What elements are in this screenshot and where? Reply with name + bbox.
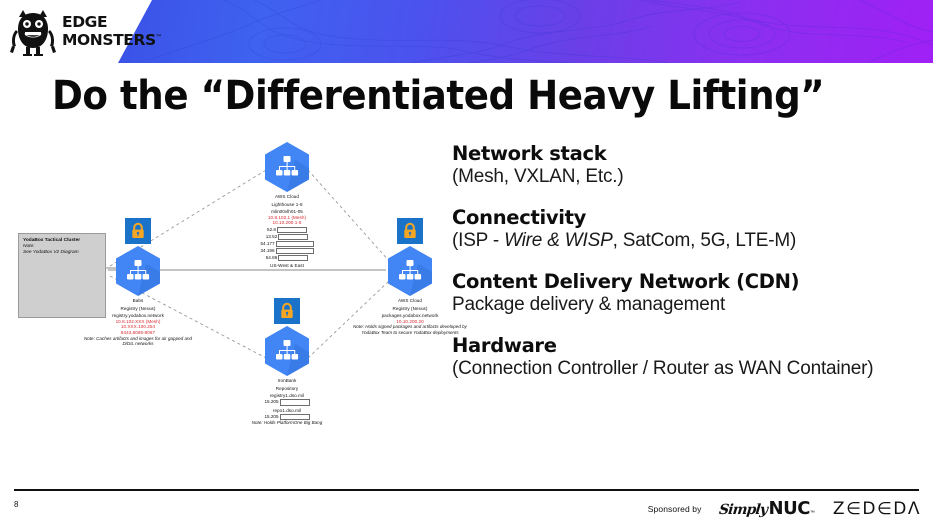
stack-bar	[280, 414, 310, 420]
edge-monsters-monster-icon	[10, 8, 56, 56]
simplynuc-logo: SimplyNUC™	[719, 498, 814, 519]
stack-bar	[276, 248, 314, 254]
ironbank-note: Note: Holds PlatformOne Big Bang	[227, 420, 347, 425]
stack-bar	[278, 234, 308, 240]
stack-number: 34.196	[260, 248, 275, 254]
aws-registry-note: Note: Holds signed packages and artifact…	[350, 324, 470, 335]
stack-bar	[278, 255, 308, 261]
stack-row: 13.52	[227, 233, 347, 240]
header-banner: EDGE MONSTERS™	[0, 0, 933, 63]
aws-lighthouse-ip-stack: 52.8 13.52 54.177 34.196 54.86	[227, 226, 347, 261]
stack-bar	[280, 399, 310, 405]
bullet-heading: Network stack	[452, 142, 922, 165]
bullet-subtext: Package delivery & management	[452, 293, 922, 317]
ironbank-hexagon	[264, 326, 310, 376]
node-aws-registry[interactable]: AWS Cloud Registry (Nexus) packages.yoda…	[350, 218, 470, 335]
babs-note: Note: Caches artifacts and images for ai…	[78, 336, 198, 347]
bullet-subtext: (Mesh, VXLAN, Etc.)	[452, 165, 922, 189]
bullet-item-network-stack: Network stack (Mesh, VXLAN, Etc.)	[452, 142, 922, 189]
ironbank-role: Repository	[227, 386, 347, 392]
stack-bar	[277, 227, 307, 233]
aws-registry-lock-badge	[397, 218, 423, 244]
bullet-heading: Hardware	[452, 334, 922, 357]
bullet-list: Network stack (Mesh, VXLAN, Etc.) Connec…	[452, 142, 922, 398]
network-architecture-diagram: YodaBox Tactical Cluster Note: See YodaB…	[8, 140, 448, 460]
stack-number: 15.205	[264, 414, 279, 420]
page-title: Do the “Differentiated Heavy Lifting”	[52, 74, 833, 118]
bullet-item-connectivity: Connectivity (ISP - Wire & WISP, SatCom,…	[452, 206, 922, 253]
sponsor-area: Sponsored by SimplyNUC™ Z∈D∈DΛ	[648, 498, 921, 519]
bullet-subtext: (Connection Controller / Router as WAN C…	[452, 357, 922, 381]
stack-row: 52.8	[227, 226, 347, 233]
bullet-subtext-pre: (Mesh, VXLAN, Etc.)	[452, 166, 623, 187]
aws-registry-role: Registry (Nexus)	[350, 306, 470, 312]
aws-registry-name: AWS Cloud	[350, 298, 470, 304]
bullet-item-hardware: Hardware (Connection Controller / Router…	[452, 334, 922, 381]
stack-row: 34.196	[227, 247, 347, 254]
babs-name: Babs	[78, 298, 198, 304]
aws-lighthouse-ip2: 10.10.200.1-5	[227, 220, 347, 226]
page-number: 8	[14, 500, 18, 509]
bullet-item-cdn: Content Delivery Network (CDN) Package d…	[452, 270, 922, 317]
brand-wordmark-line2: MONSTERS	[62, 32, 156, 50]
simplynuc-script: Simply	[719, 502, 769, 518]
stack-number: 52.8	[267, 227, 277, 233]
babs-lock-badge	[125, 218, 151, 244]
brand-logo: EDGE MONSTERS™	[10, 6, 150, 58]
stack-number: 54.177	[260, 241, 275, 247]
bullet-heading: Content Delivery Network (CDN)	[452, 270, 922, 293]
brand-wordmark-line1: EDGE	[62, 13, 107, 31]
stack-number: 13.52	[266, 234, 279, 240]
aws-lighthouse-name: AWS Cloud	[227, 194, 347, 200]
zededa-logo: Z∈D∈DΛ	[833, 499, 921, 519]
aws-lighthouse-hexagon	[264, 142, 310, 192]
brand-wordmark: EDGE MONSTERS™	[62, 15, 161, 49]
aws-registry-hexagon	[387, 246, 433, 296]
stack-bar	[276, 241, 314, 247]
stack-row: 54.86	[227, 254, 347, 261]
stack-row: 15.205	[227, 399, 347, 406]
bullet-subtext-post: , SatCom, 5G, LTE-M)	[613, 230, 797, 251]
node-ironbank[interactable]: IronBank Repository registry1.dso.mil 15…	[227, 298, 347, 426]
footer-divider	[14, 489, 919, 491]
bullet-subtext: (ISP - Wire & WISP, SatCom, 5G, LTE-M)	[452, 229, 922, 253]
bullet-subtext-pre: Package delivery & management	[452, 294, 725, 315]
bullet-subtext-pre: (Connection Controller / Router as WAN C…	[452, 358, 873, 379]
brand-trademark: ™	[156, 34, 162, 41]
node-aws-lighthouse[interactable]: AWS Cloud Lighthouse 1-5 mlin00vlh01-05 …	[227, 142, 347, 268]
ironbank-lock-badge	[274, 298, 300, 324]
sponsored-by-label: Sponsored by	[648, 504, 702, 514]
stack-row: 15.205	[227, 414, 347, 421]
node-babs-registry[interactable]: Babs Registry (Nexus) registry.yodabox.n…	[78, 218, 198, 346]
babs-hexagon	[115, 246, 161, 296]
babs-role: Registry (Nexus)	[78, 306, 198, 312]
aws-lighthouse-role: Lighthouse 1-5	[227, 202, 347, 208]
aws-lighthouse-region: US-West & East	[227, 263, 347, 269]
simplynuc-trademark: ™	[810, 510, 815, 516]
ironbank-name: IronBank	[227, 378, 347, 384]
ironbank-host1: registry1.dso.mil	[227, 393, 347, 399]
stack-row: 54.177	[227, 240, 347, 247]
stack-number: 15.205	[264, 399, 279, 405]
bullet-heading: Connectivity	[452, 206, 922, 229]
stack-number: 54.86	[266, 255, 279, 261]
ironbank-host2: repo1.dso.mil	[227, 408, 347, 414]
simplynuc-bold: NUC	[769, 498, 810, 519]
bullet-subtext-emphasis: Wire & WISP	[504, 230, 612, 251]
